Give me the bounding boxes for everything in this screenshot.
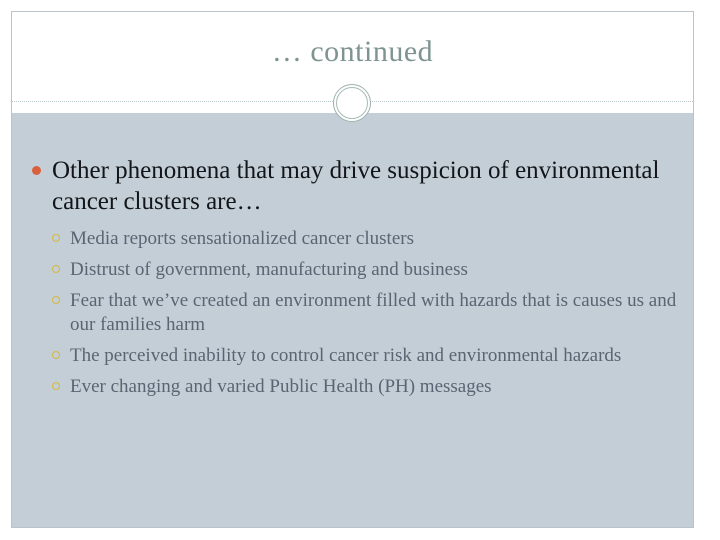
hollow-ring-bullet-icon: [52, 382, 60, 390]
list-item-label: Fear that we’ve created an environment f…: [70, 290, 676, 335]
hollow-ring-bullet-icon: [52, 234, 60, 242]
hollow-ring-bullet-icon: [52, 265, 60, 273]
list-item: Distrust of government, manufacturing an…: [24, 258, 679, 282]
sub-bullet-list: Media reports sensationalized cancer clu…: [24, 227, 679, 399]
list-item-level1: Other phenomena that may drive suspicion…: [24, 155, 679, 217]
list-item-label: The perceived inability to control cance…: [70, 345, 621, 366]
hollow-ring-bullet-icon: [52, 351, 60, 359]
list-item: The perceived inability to control cance…: [24, 344, 679, 368]
list-item-level1-label: Other phenomena that may drive suspicion…: [52, 157, 659, 215]
page-title: … continued: [12, 34, 693, 70]
ring-inner-circle: [336, 87, 368, 119]
double-ring-decoration-icon: [333, 84, 373, 124]
list-item: Media reports sensationalized cancer clu…: [24, 227, 679, 251]
slide-body-panel: Other phenomena that may drive suspicion…: [12, 113, 693, 527]
list-item-label: Media reports sensationalized cancer clu…: [70, 228, 414, 249]
list-item: Ever changing and varied Public Health (…: [24, 375, 679, 399]
hollow-ring-bullet-icon: [52, 296, 60, 304]
list-item: Fear that we’ve created an environment f…: [24, 289, 679, 337]
list-item-label: Ever changing and varied Public Health (…: [70, 376, 492, 397]
bullet-list: Other phenomena that may drive suspicion…: [24, 155, 679, 406]
presentation-slide: … continued Other phenomena that may dri…: [11, 11, 694, 528]
filled-circle-bullet-icon: [32, 166, 41, 175]
list-item-label: Distrust of government, manufacturing an…: [70, 259, 468, 280]
